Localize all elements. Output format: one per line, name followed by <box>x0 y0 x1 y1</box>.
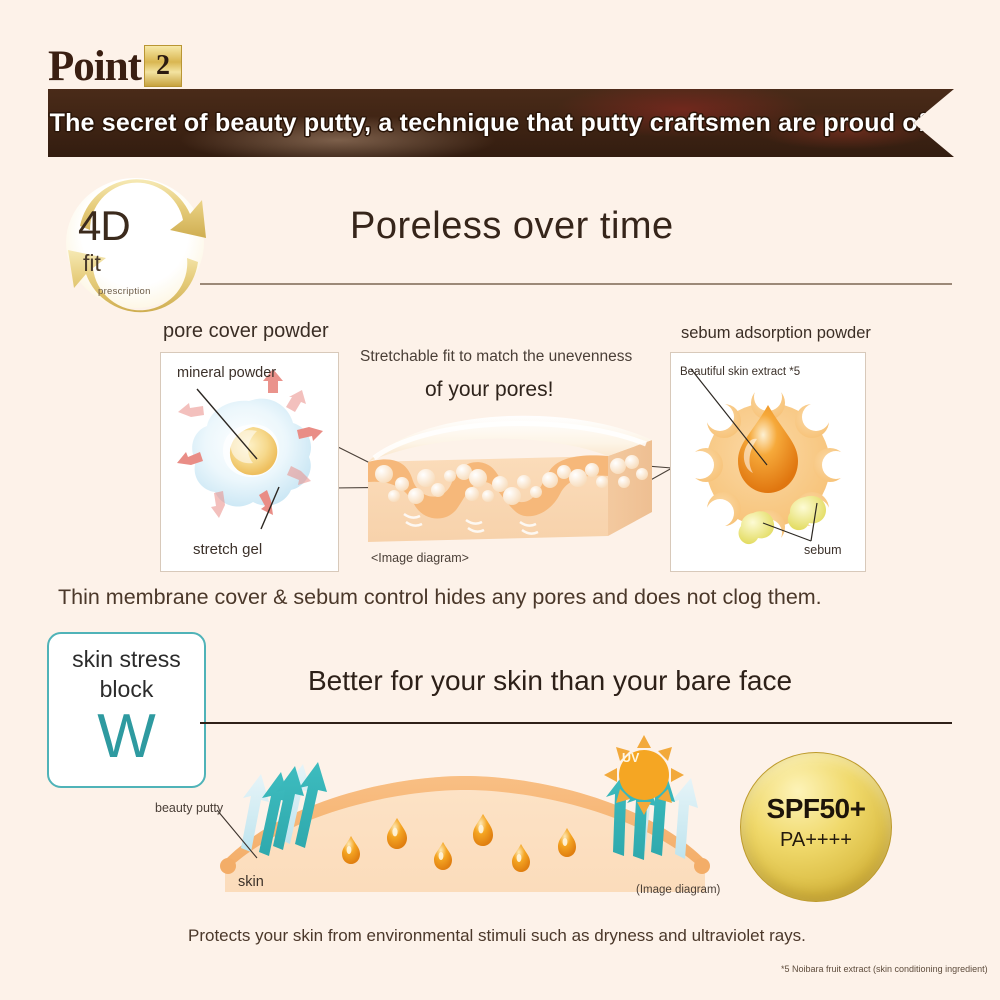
banner-text: The secret of beauty putty, a technique … <box>50 109 927 138</box>
section-banner: The secret of beauty putty, a technique … <box>48 89 954 157</box>
point-number-badge: 2 <box>144 45 182 87</box>
mineral-powder-illustration <box>161 353 338 571</box>
badge-4d-fit: 4D fit prescription <box>50 178 220 310</box>
bottom-image-diagram-caption: (Image diagram) <box>636 884 720 896</box>
label-sebum-adsorption-powder: sebum adsorption powder <box>681 324 871 343</box>
uv-sun-icon <box>604 735 684 815</box>
label-sebum: sebum <box>804 543 842 557</box>
badge-4d-sub: fit <box>83 250 101 277</box>
badge-skin-stress-block: skin stress block W <box>47 632 206 788</box>
sebum-adsorption-illustration <box>671 353 865 571</box>
section2-divider <box>200 722 952 724</box>
section2-summary: Protects your skin from environmental st… <box>188 926 806 946</box>
label-pore-cover-powder: pore cover powder <box>163 320 329 343</box>
pore-block-illustration <box>360 404 660 564</box>
section1-summary: Thin membrane cover & sebum control hide… <box>58 585 822 610</box>
panel-pore-cover-powder: mineral powder stretch gel <box>160 352 339 572</box>
badge-4d-caption: prescription <box>98 286 151 297</box>
panel-sebum-adsorption-powder: Beautiful skin extract *5 sebum <box>670 352 866 572</box>
pa-value: PA++++ <box>741 829 891 852</box>
label-stretch-gel: stretch gel <box>193 541 262 558</box>
footnote: *5 Noibara fruit extract (skin condition… <box>781 964 988 974</box>
label-beauty-putty: beauty putty <box>155 801 223 815</box>
section2-heading: Better for your skin than your bare face <box>308 665 792 697</box>
point-heading: Point 2 <box>48 45 182 87</box>
badge-w-letter: W <box>49 702 204 772</box>
point-label: Point <box>48 47 141 87</box>
center-text-line1: Stretchable fit to match the unevenness <box>360 348 632 366</box>
spf-value: SPF50+ <box>741 793 891 825</box>
infographic-page: Point 2 The secret of beauty putty, a te… <box>0 0 1000 1000</box>
center-text-line2: of your pores! <box>425 378 553 402</box>
label-beautiful-skin-extract: Beautiful skin extract *5 <box>680 366 800 378</box>
badge-4d-main: 4D <box>78 202 130 250</box>
badge-w-line1: skin stress <box>49 646 204 673</box>
label-skin: skin <box>238 874 264 890</box>
section1-heading: Poreless over time <box>350 205 674 248</box>
badge-spf: SPF50+ PA++++ <box>740 752 892 902</box>
label-mineral-powder: mineral powder <box>177 365 276 381</box>
uv-sun-label: UV <box>622 751 639 765</box>
section1-divider <box>200 283 952 285</box>
center-image-diagram-caption: <Image diagram> <box>371 551 469 565</box>
badge-w-line2: block <box>49 676 204 703</box>
